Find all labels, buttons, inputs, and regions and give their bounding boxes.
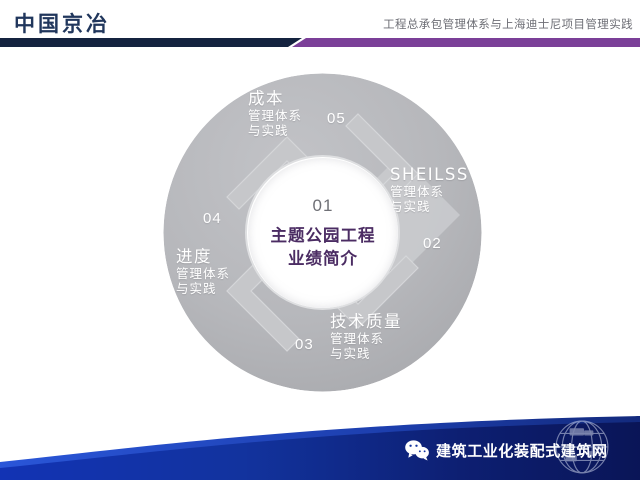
header-divider-bar <box>0 38 640 47</box>
center-number: 01 <box>313 196 334 216</box>
header-subtitle: 工程总承包管理体系与上海迪士尼项目管理实践 <box>383 16 633 32</box>
center-title-line2: 业绩简介 <box>271 248 376 270</box>
slide-header: 中国京冶 工程总承包管理体系与上海迪士尼项目管理实践 <box>0 0 640 48</box>
footer-brand-text: 建筑工业化装配式建筑网 <box>436 440 608 461</box>
diagram-center-hub[interactable]: 01 主题公园工程 业绩简介 <box>248 158 398 308</box>
wechat-icon <box>404 439 430 461</box>
process-cycle-diagram: 成本 管理体系 与实践 05 SHEILSS 管理体系 与实践 02 技术质量 … <box>160 70 485 395</box>
center-title: 主题公园工程 业绩简介 <box>271 225 376 270</box>
slide-footer: 建筑工业化装配式建筑网 <box>0 416 640 480</box>
center-title-line1: 主题公园工程 <box>271 225 376 247</box>
presentation-slide: 中国京冶 工程总承包管理体系与上海迪士尼项目管理实践 <box>0 0 640 480</box>
footer-brand: 建筑工业化装配式建筑网 <box>404 438 608 462</box>
company-logo-text: 中国京冶 <box>14 8 110 38</box>
